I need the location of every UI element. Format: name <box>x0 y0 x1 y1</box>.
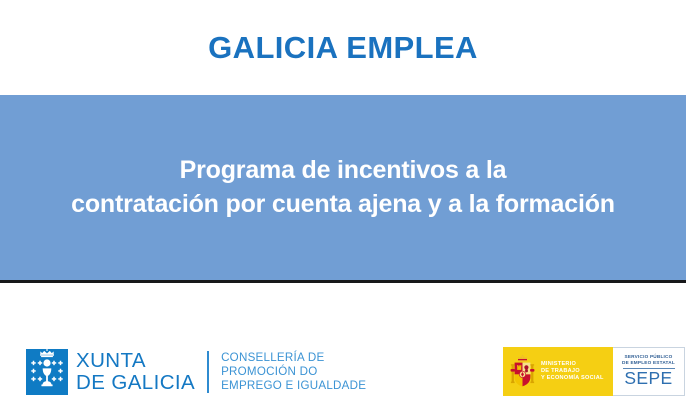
ministerio-de-trabajo-logo: MINISTERIO DE TRABAJO Y ECONOMÍA SOCIAL <box>503 347 613 396</box>
title-zone: GALICIA EMPLEA <box>0 0 686 95</box>
sepe-acronym: SEPE <box>624 370 672 388</box>
consellaria-line-1: CONSELLERÍA DE <box>221 351 366 365</box>
ministerio-line-1: MINISTERIO <box>541 361 604 368</box>
footer-logos: XUNTA DE GALICIA CONSELLERÍA DE PROMOCIÓ… <box>0 286 686 410</box>
consellaria-wordmark: CONSELLERÍA DE PROMOCIÓN DO EMPREGO E IG… <box>221 349 366 395</box>
spain-coat-of-arms-icon <box>509 355 536 389</box>
ministerio-line-2: DE TRABAJO <box>541 368 604 375</box>
government-logos: MINISTERIO DE TRABAJO Y ECONOMÍA SOCIAL … <box>503 347 685 396</box>
program-banner-line-1: Programa de incentivos a la <box>71 154 615 187</box>
sepe-logo: SERVICIO PÚBLICO DE EMPLEO ESTATAL SEPE <box>613 347 685 396</box>
program-banner-text: Programa de incentivos a la contratación… <box>61 154 625 221</box>
xunta-wordmark-line-1: XUNTA <box>76 350 195 372</box>
slide-root: GALICIA EMPLEA Programa de incentivos a … <box>0 0 686 410</box>
consellaria-line-2: PROMOCIÓN DO <box>221 365 366 379</box>
xunta-emblem-icon <box>26 349 68 395</box>
xunta-wordmark-line-2: DE GALICIA <box>76 372 195 394</box>
sepe-subtitle-line-2: DE EMPLEO ESTATAL <box>622 360 675 366</box>
xunta-de-galicia-logo: XUNTA DE GALICIA CONSELLERÍA DE PROMOCIÓ… <box>26 349 366 395</box>
logo-divider <box>207 351 209 393</box>
ministerio-line-3: Y ECONOMÍA SOCIAL <box>541 375 604 382</box>
page-title: GALICIA EMPLEA <box>208 32 478 63</box>
ministerio-wordmark: MINISTERIO DE TRABAJO Y ECONOMÍA SOCIAL <box>541 361 604 382</box>
xunta-wordmark: XUNTA DE GALICIA <box>76 349 195 395</box>
program-banner: Programa de incentivos a la contratación… <box>0 95 686 283</box>
consellaria-line-3: EMPREGO E IGUALDADE <box>221 379 366 393</box>
program-banner-line-2: contratación por cuenta ajena y a la for… <box>71 188 615 221</box>
